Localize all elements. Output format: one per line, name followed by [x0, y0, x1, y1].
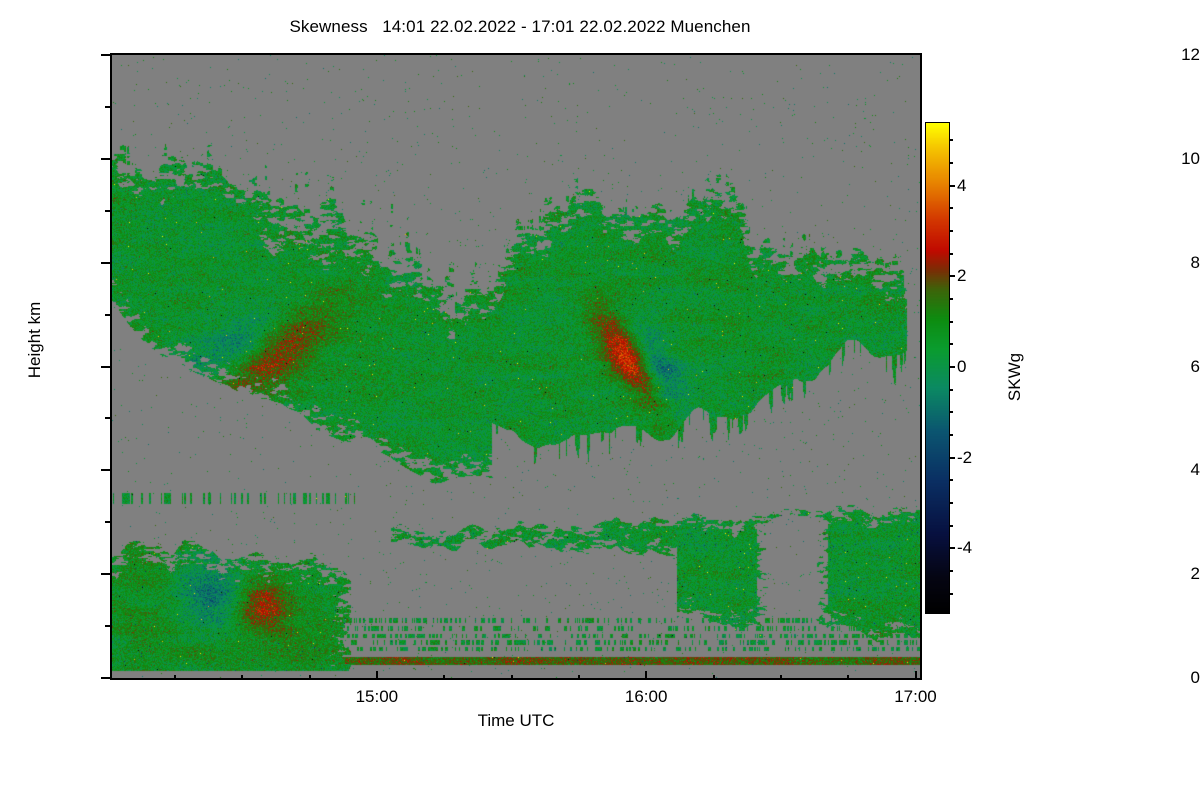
colorbar-tick-label: -4 [957, 539, 972, 556]
y-tick-minor [105, 314, 110, 316]
x-tick-label: 16:00 [586, 688, 706, 705]
y-tick-minor [105, 521, 110, 523]
colorbar-tick-mark [949, 547, 955, 549]
y-tick-minor [105, 210, 110, 212]
y-tick-minor [105, 417, 110, 419]
colorbar-tick-minor [949, 593, 953, 595]
x-tick-minor [511, 675, 513, 680]
colorbar-tick-mark [949, 185, 955, 187]
colorbar-tick-mark [949, 457, 955, 459]
x-axis-label: Time UTC [110, 711, 922, 731]
colorbar-tick-minor [949, 230, 953, 232]
y-tick-minor [105, 106, 110, 108]
colorbar-tick-mark [949, 275, 955, 277]
y-axis-label: Height km [25, 250, 45, 430]
y-tick-label: 2 [1108, 565, 1200, 582]
x-tick-mark [915, 671, 917, 680]
colorbar-tick-minor [949, 139, 953, 141]
colorbar-tick-label: -2 [957, 449, 972, 466]
y-tick-mark [101, 54, 110, 56]
colorbar-title: SKWg [1005, 297, 1025, 457]
colorbar-tick-label: 4 [957, 177, 966, 194]
y-tick-label: 8 [1108, 254, 1200, 271]
x-tick-label: 17:00 [856, 688, 976, 705]
colorbar[interactable] [925, 122, 950, 614]
x-tick-mark [645, 671, 647, 680]
x-tick-mark [376, 671, 378, 680]
x-tick-minor [713, 675, 715, 680]
colorbar-tick-minor [949, 343, 953, 345]
y-tick-label: 10 [1108, 150, 1200, 167]
y-tick-mark [101, 573, 110, 575]
chart-title: Skewness 14:01 22.02.2022 - 17:01 22.02.… [0, 17, 1040, 37]
y-tick-label: 0 [1108, 669, 1200, 686]
x-tick-minor [578, 675, 580, 680]
y-tick-mark [101, 262, 110, 264]
colorbar-tick-label: 0 [957, 358, 966, 375]
colorbar-tick-minor [949, 389, 953, 391]
y-tick-mark [101, 366, 110, 368]
colorbar-tick-label: 2 [957, 267, 966, 284]
x-tick-label: 15:00 [317, 688, 437, 705]
figure-skewness-time-height: Skewness 14:01 22.02.2022 - 17:01 22.02.… [0, 0, 1200, 800]
colorbar-tick-minor [949, 253, 953, 255]
colorbar-tick-mark [949, 366, 955, 368]
colorbar-tick-minor [949, 525, 953, 527]
x-tick-minor [443, 675, 445, 680]
colorbar-tick-minor [949, 162, 953, 164]
colorbar-tick-minor [949, 434, 953, 436]
y-tick-label: 12 [1108, 46, 1200, 63]
heatmap-canvas[interactable] [112, 55, 920, 678]
y-tick-mark [101, 469, 110, 471]
colorbar-tick-minor [949, 502, 953, 504]
x-tick-minor [241, 675, 243, 680]
x-tick-minor [309, 675, 311, 680]
colorbar-tick-minor [949, 411, 953, 413]
colorbar-tick-minor [949, 321, 953, 323]
y-tick-mark [101, 158, 110, 160]
colorbar-tick-minor [949, 479, 953, 481]
y-tick-minor [105, 625, 110, 627]
plot-area[interactable] [110, 53, 922, 680]
colorbar-tick-minor [949, 570, 953, 572]
x-tick-minor [174, 675, 176, 680]
y-tick-label: 6 [1108, 358, 1200, 375]
colorbar-tick-minor [949, 298, 953, 300]
colorbar-gradient [926, 123, 949, 613]
x-tick-minor [780, 675, 782, 680]
y-tick-label: 4 [1108, 461, 1200, 478]
y-tick-mark [101, 677, 110, 679]
colorbar-tick-minor [949, 207, 953, 209]
x-tick-minor [847, 675, 849, 680]
